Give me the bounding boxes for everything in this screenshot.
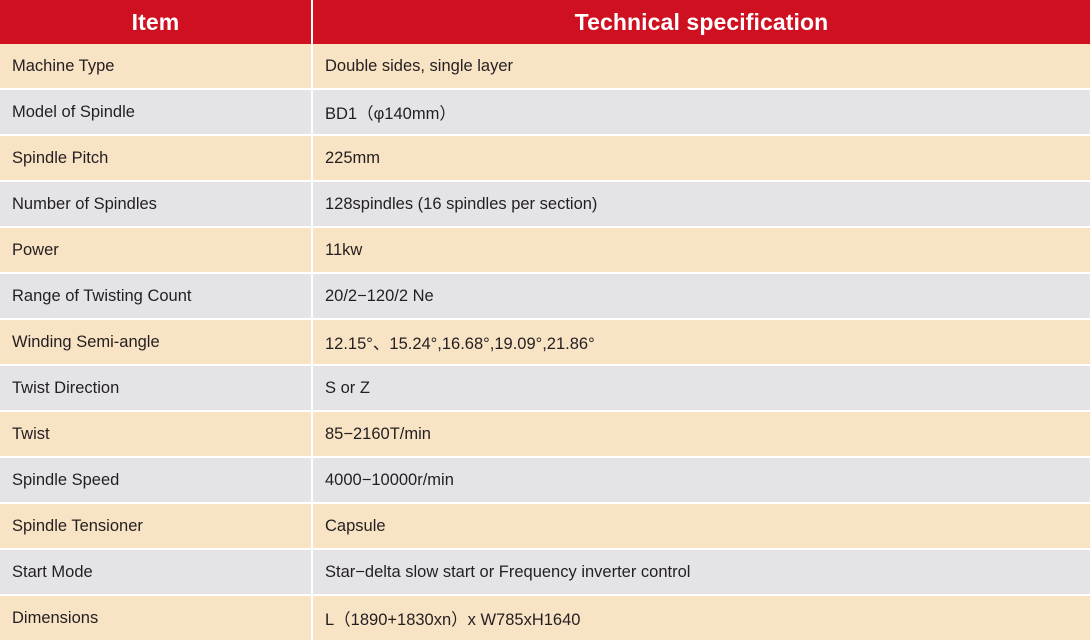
cell-item-label: Spindle Speed bbox=[0, 457, 312, 503]
cell-item-label: Number of Spindles bbox=[0, 181, 312, 227]
table-row: Twist DirectionS or Z bbox=[0, 365, 1090, 411]
table-row: Power11kw bbox=[0, 227, 1090, 273]
cell-item-label: Model of Spindle bbox=[0, 89, 312, 135]
table-row: Spindle TensionerCapsule bbox=[0, 503, 1090, 549]
table-row: Spindle Speed4000−10000r/min bbox=[0, 457, 1090, 503]
cell-item-label: Start Mode bbox=[0, 549, 312, 595]
cell-item-label: Dimensions bbox=[0, 595, 312, 640]
cell-specification-value: BD1（φ140mm） bbox=[312, 89, 1090, 135]
cell-specification-value: 85−2160T/min bbox=[312, 411, 1090, 457]
column-header-item: Item bbox=[0, 0, 312, 44]
table-row: Machine TypeDouble sides, single layer bbox=[0, 44, 1090, 89]
cell-item-label: Power bbox=[0, 227, 312, 273]
cell-specification-value: Star−delta slow start or Frequency inver… bbox=[312, 549, 1090, 595]
cell-specification-value: S or Z bbox=[312, 365, 1090, 411]
cell-item-label: Winding Semi-angle bbox=[0, 319, 312, 365]
cell-item-label: Spindle Tensioner bbox=[0, 503, 312, 549]
technical-specification-table: Item Technical specification Machine Typ… bbox=[0, 0, 1090, 640]
cell-item-label: Spindle Pitch bbox=[0, 135, 312, 181]
table-row: Number of Spindles128spindles (16 spindl… bbox=[0, 181, 1090, 227]
header-row: Item Technical specification bbox=[0, 0, 1090, 44]
cell-specification-value: 4000−10000r/min bbox=[312, 457, 1090, 503]
cell-specification-value: Capsule bbox=[312, 503, 1090, 549]
table-row: Model of SpindleBD1（φ140mm） bbox=[0, 89, 1090, 135]
cell-specification-value: L（1890+1830xn）x W785xH1640 bbox=[312, 595, 1090, 640]
cell-item-label: Range of Twisting Count bbox=[0, 273, 312, 319]
cell-item-label: Twist bbox=[0, 411, 312, 457]
table-row: Spindle Pitch225mm bbox=[0, 135, 1090, 181]
cell-specification-value: 11kw bbox=[312, 227, 1090, 273]
table-row: Start ModeStar−delta slow start or Frequ… bbox=[0, 549, 1090, 595]
column-header-specification: Technical specification bbox=[312, 0, 1090, 44]
table-row: Range of Twisting Count20/2−120/2 Ne bbox=[0, 273, 1090, 319]
table-header: Item Technical specification bbox=[0, 0, 1090, 44]
cell-item-label: Machine Type bbox=[0, 44, 312, 89]
table-row: Twist85−2160T/min bbox=[0, 411, 1090, 457]
cell-item-label: Twist Direction bbox=[0, 365, 312, 411]
cell-specification-value: 225mm bbox=[312, 135, 1090, 181]
cell-specification-value: 128spindles (16 spindles per section) bbox=[312, 181, 1090, 227]
cell-specification-value: 20/2−120/2 Ne bbox=[312, 273, 1090, 319]
cell-specification-value: Double sides, single layer bbox=[312, 44, 1090, 89]
cell-specification-value: 12.15°、15.24°,16.68°,19.09°,21.86° bbox=[312, 319, 1090, 365]
table-body: Machine TypeDouble sides, single layerMo… bbox=[0, 44, 1090, 640]
table-row: Winding Semi-angle12.15°、15.24°,16.68°,1… bbox=[0, 319, 1090, 365]
table-row: DimensionsL（1890+1830xn）x W785xH1640 bbox=[0, 595, 1090, 640]
